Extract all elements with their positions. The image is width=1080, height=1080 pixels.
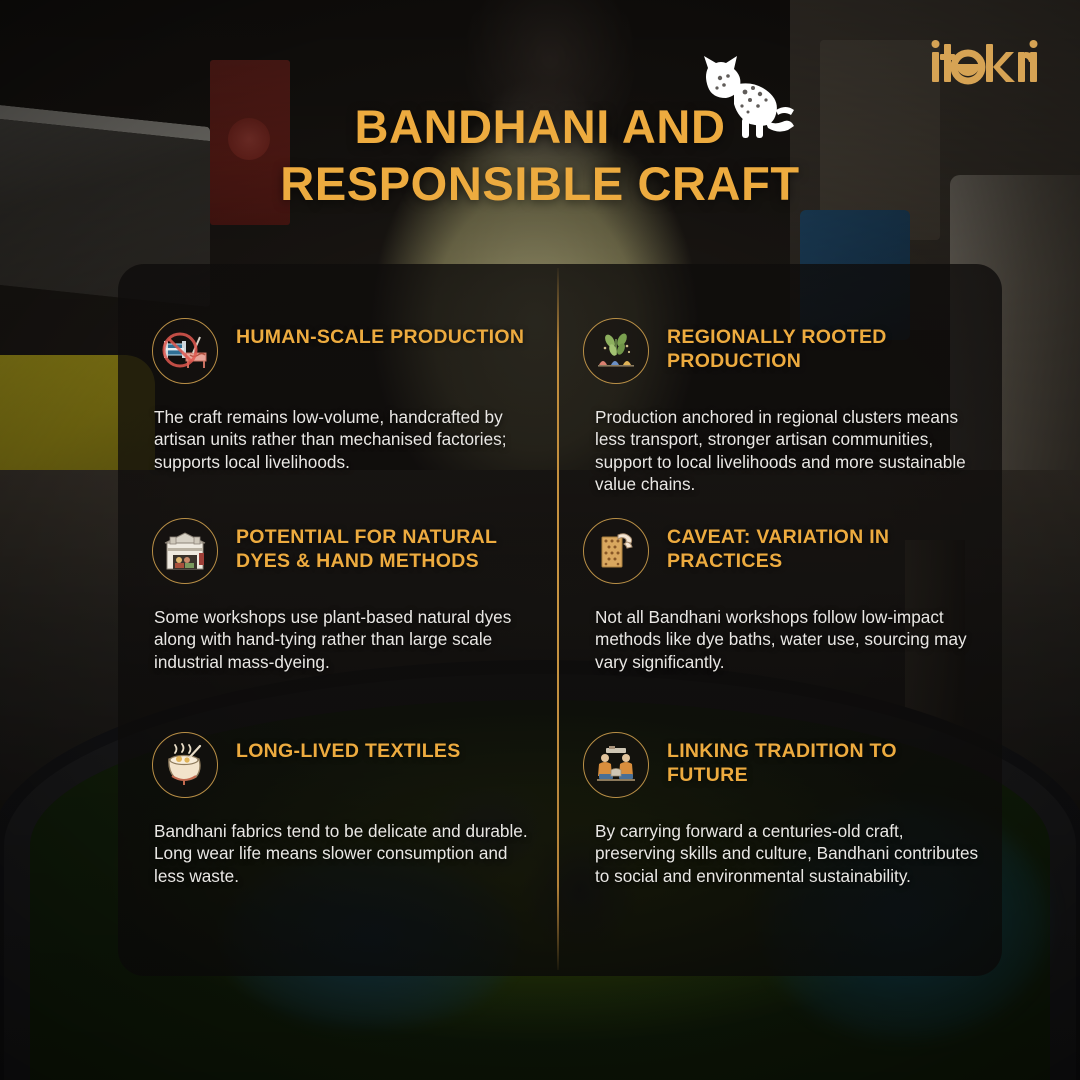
card-linking-tradition-to-future: LINKING TRADITION TO FUTURE By carrying … [583,732,983,887]
plant-leaves-dye-mounds-icon [583,318,649,384]
artisan-workshop-building-icon [152,518,218,584]
card-header: LONG-LIVED TEXTILES [152,732,542,798]
card-regionally-rooted-production: REGIONALLY ROOTED PRODUCTION Production … [583,318,983,495]
card-title: POTENTIAL FOR NATURAL DYES & HAND METHOD… [236,518,542,574]
card-header: REGIONALLY ROOTED PRODUCTION [583,318,983,384]
card-title: LONG-LIVED TEXTILES [236,732,461,764]
card-title: HUMAN-SCALE PRODUCTION [236,318,524,350]
itokri-basket-logo-icon [930,40,1038,88]
itokri-logo[interactable] [930,40,1038,95]
card-body: The craft remains low-volume, handcrafte… [154,406,542,473]
title-line-1: BANDHANI AND [0,98,1080,155]
no-factory-machine-icon [152,318,218,384]
two-artisans-working-icon [583,732,649,798]
card-title: REGIONALLY ROOTED PRODUCTION [667,318,983,374]
card-body: Production anchored in regional clusters… [595,406,983,495]
card-title: CAVEAT: VARIATION IN PRACTICES [667,518,983,574]
card-body: Some workshops use plant-based natural d… [154,606,542,673]
card-header: CAVEAT: VARIATION IN PRACTICES [583,518,983,584]
header: BANDHANI AND RESPONSIBLE CRAFT [0,0,1080,230]
card-body: Bandhani fabrics tend to be delicate and… [154,820,542,887]
card-header: LINKING TRADITION TO FUTURE [583,732,983,798]
card-header: HUMAN-SCALE PRODUCTION [152,318,542,384]
card-header: POTENTIAL FOR NATURAL DYES & HAND METHOD… [152,518,542,584]
steaming-dye-pot-icon [152,732,218,798]
hand-holding-patterned-fabric-icon [583,518,649,584]
card-human-scale-production: HUMAN-SCALE PRODUCTION The craft remains… [152,318,542,473]
card-body: By carrying forward a centuries-old craf… [595,820,983,887]
card-body: Not all Bandhani workshops follow low-im… [595,606,983,673]
card-potential-for-natural-dyes: POTENTIAL FOR NATURAL DYES & HAND METHOD… [152,518,542,673]
card-title: LINKING TRADITION TO FUTURE [667,732,983,788]
column-divider [557,268,559,970]
card-caveat-variation-in-practices: CAVEAT: VARIATION IN PRACTICES Not all B… [583,518,983,673]
page-title: BANDHANI AND RESPONSIBLE CRAFT [0,98,1080,213]
title-line-2: RESPONSIBLE CRAFT [0,155,1080,212]
card-long-lived-textiles: LONG-LIVED TEXTILES Bandhani fabrics ten… [152,732,542,887]
